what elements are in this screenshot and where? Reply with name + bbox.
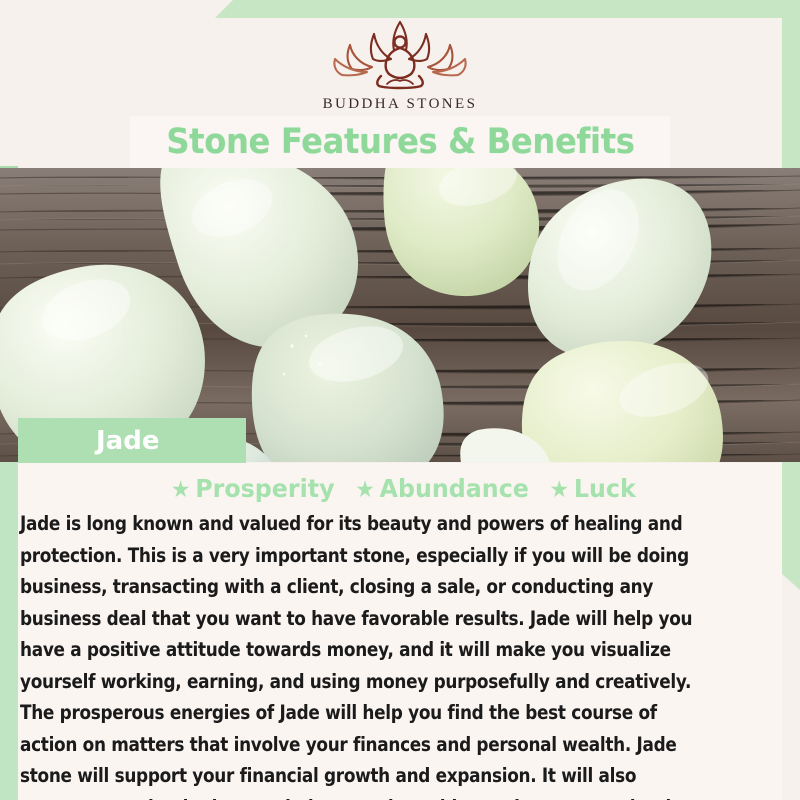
lotus-meditation-icon: [325, 14, 475, 92]
content-panel: ★Prosperity ★Abundance ★Luck Jade is lon…: [18, 463, 782, 800]
keyword-luck: Luck: [574, 474, 636, 503]
brand-logo: BUDDHA STONES: [0, 14, 800, 113]
page-title: Stone Features & Benefits: [166, 122, 634, 162]
brand-name: BUDDHA STONES: [323, 96, 478, 113]
poster-root: BUDDHA STONES Stone Features & Benefits: [0, 0, 800, 800]
star-icon-1: ★: [171, 477, 191, 503]
stone-name-banner: Jade: [18, 418, 246, 463]
decorative-frame-left-lower: [0, 462, 18, 800]
title-band: Stone Features & Benefits: [130, 116, 670, 168]
keyword-prosperity: Prosperity: [195, 474, 334, 503]
stone-description: Jade is long known and valued for its be…: [20, 508, 712, 800]
keyword-list: ★Prosperity ★Abundance ★Luck: [37, 474, 763, 503]
star-icon-2: ★: [355, 477, 375, 503]
star-icon-3: ★: [550, 477, 570, 503]
keyword-abundance: Abundance: [380, 474, 529, 503]
stone-name-label: Jade: [96, 426, 159, 456]
